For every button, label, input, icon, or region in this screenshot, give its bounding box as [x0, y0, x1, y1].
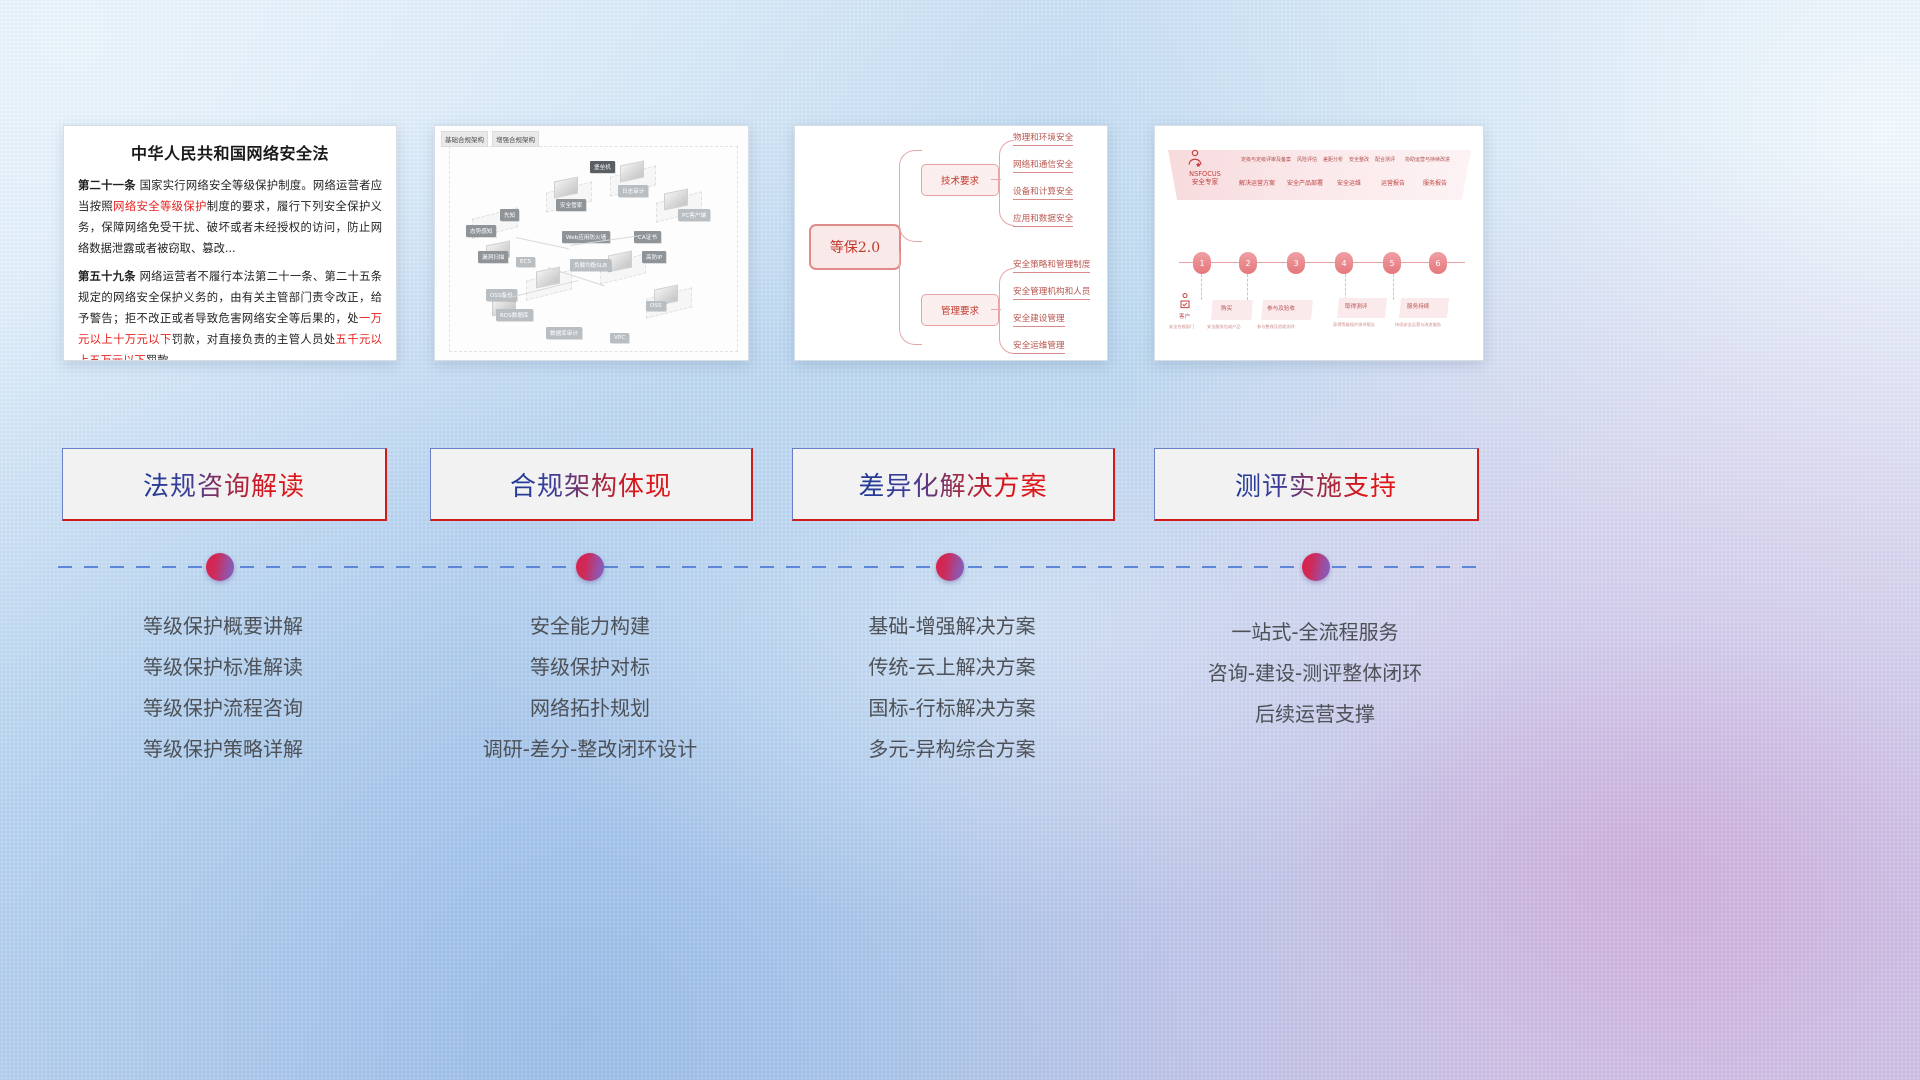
mindmap-root-node: 等保2.0: [809, 224, 901, 270]
list-item: 等级保护流程咨询: [62, 688, 384, 729]
expert-person-icon: [1185, 148, 1205, 168]
service-list-4: 一站式-全流程服务 咨询-建设-测评整体闭环 后续运营支撑: [1152, 612, 1478, 735]
card-nsfocus-roadmap: NSFOCUS 安全专家 定级与定级评审及备案 风险评估 差距分析 安全整改 配…: [1154, 125, 1484, 361]
nsfocus-tag-service: 服务持续: [1407, 302, 1429, 310]
nsfocus-step-6: 6: [1429, 252, 1447, 274]
topology-node-slb: 负载均衡SLB: [570, 259, 611, 271]
headline-box-3[interactable]: 差异化解决方案: [792, 448, 1115, 521]
topology-node-vpc: VPC: [610, 333, 629, 343]
law-title: 中华人民共和国网络安全法: [78, 140, 382, 164]
mindmap-connector: [899, 252, 922, 345]
topology-node-oss: OSS: [646, 301, 666, 311]
mindmap-connector: [899, 150, 922, 242]
list-item: 国标-行标解决方案: [792, 688, 1112, 729]
list-item: 等级保护策略详解: [62, 729, 384, 770]
law-article-21: 第二十一条 国家实行网络安全等级保护制度。网络运营者应当按照网络安全等级保护制度…: [78, 175, 382, 259]
service-list-1: 等级保护概要讲解 等级保护标准解读 等级保护流程咨询 等级保护策略详解: [62, 606, 384, 770]
topology-node-ossbak: OSS备份: [486, 289, 517, 301]
mindmap-leaf-policy: 安全策略和管理制度: [1013, 258, 1090, 273]
mindmap-leaf-physical: 物理和环境安全: [1013, 131, 1073, 146]
mindmap-leaf-ops: 安全运维管理: [1013, 339, 1065, 354]
list-item: 安全能力构建: [430, 606, 750, 647]
headline-label-1: 法规咨询解读: [143, 466, 305, 503]
nsfocus-banner-top-5: 配合测评: [1375, 156, 1395, 163]
mindmap-connector: [999, 268, 1014, 354]
service-list-2: 安全能力构建 等级保护对标 网络拓扑规划 调研-差分-整改闭环设计: [430, 606, 750, 770]
card-mindmap: 等保2.0 技术要求 管理要求 物理和环境安全 网络和通信安全 设备和计算安全 …: [794, 125, 1108, 361]
timeline-dot-3: [936, 553, 964, 581]
nsfocus-brand-line2: 安全专家: [1177, 178, 1233, 186]
nsfocus-tag-customer: 客户: [1179, 312, 1190, 320]
mindmap-connector: [991, 309, 1001, 310]
service-list-3: 基础-增强解决方案 传统-云上解决方案 国标-行标解决方案 多元-异构综合方案: [792, 606, 1112, 770]
mindmap-leaf-network: 网络和通信安全: [1013, 158, 1073, 173]
mindmap-connector: [999, 140, 1014, 226]
nsfocus-step-2: 2: [1239, 252, 1257, 274]
list-item: 后续运营支撑: [1152, 694, 1478, 735]
nsfocus-dash: [1393, 274, 1394, 300]
list-item: 等级保护概要讲解: [62, 606, 384, 647]
list-item: 一站式-全流程服务: [1152, 612, 1478, 653]
law-content: 中华人民共和国网络安全法 第二十一条 国家实行网络安全等级保护制度。网络运营者应…: [64, 126, 396, 360]
nsfocus-tag-participate: 参与及验收: [1267, 304, 1295, 312]
topology-node-situation: 态势感知: [466, 225, 496, 237]
headline-box-1[interactable]: 法规咨询解读: [62, 448, 387, 521]
mindmap-leaf-org: 安全管理机构和人员: [1013, 285, 1090, 300]
nsfocus-banner-bottom-1: 解决运营方案: [1239, 178, 1275, 187]
timeline-dot-1: [206, 553, 234, 581]
topology-node-antiddos: 高防IP: [642, 251, 666, 263]
nsfocus-dash: [1247, 274, 1248, 300]
nsfocus-step-5: 5: [1383, 252, 1401, 274]
nsfocus-tag-customer-sub: 安全合规部门: [1169, 324, 1194, 330]
law-article-21-highlight: 网络安全等级保护: [113, 200, 207, 213]
mindmap-connector: [991, 179, 1001, 180]
card-network-topology: 基础合规架构 增强合规架构 堡垒机 安全管家 先知 态势感知 漏洞扫描 日志审计: [434, 125, 749, 361]
list-item: 咨询-建设-测评整体闭环: [1152, 653, 1478, 694]
mindmap-leaf-device: 设备和计算安全: [1013, 185, 1073, 200]
headline-box-2[interactable]: 合规架构体现: [430, 448, 753, 521]
topology-tab-enhanced[interactable]: 增强合规架构: [492, 131, 539, 147]
list-item: 等级保护对标: [430, 647, 750, 688]
topology-node-bastion: 堡垒机: [590, 161, 615, 173]
nsfocus-brand: NSFOCUS 安全专家: [1177, 170, 1233, 186]
mindmap-branch-technical: 技术要求: [921, 164, 999, 196]
topology-node-rds: RDS数据库: [496, 309, 533, 321]
list-item: 传统-云上解决方案: [792, 647, 1112, 688]
nsfocus-banner-top-3: 差距分析: [1323, 156, 1343, 163]
nsfocus-step-3: 3: [1287, 252, 1305, 274]
topology-tabs: 基础合规架构 增强合规架构: [441, 131, 539, 147]
topology-diagram: 基础合规架构 增强合规架构 堡垒机 安全管家 先知 态势感知 漏洞扫描 日志审计: [435, 126, 748, 360]
customer-person-icon: [1177, 292, 1193, 310]
nsfocus-tag-report: 取得测评: [1345, 302, 1367, 310]
topology-node-logaudit: 日志审计: [618, 185, 648, 197]
nsfocus-banner-top-1: 定级与定级评审及备案: [1241, 156, 1291, 163]
headline-label-4: 测评实施支持: [1235, 466, 1397, 503]
nsfocus-banner-bottom-3: 安全运维: [1337, 178, 1361, 187]
nsfocus-tag-participate-sub: 参与整改及验收测评: [1257, 324, 1295, 330]
list-item: 网络拓扑规划: [430, 688, 750, 729]
nsfocus-banner-top-4: 安全整改: [1349, 156, 1369, 163]
nsfocus-dash: [1201, 274, 1202, 300]
topology-node-ca: CA证书: [634, 231, 661, 243]
list-item: 调研-差分-整改闭环设计: [430, 729, 750, 770]
headline-label-3: 差异化解决方案: [858, 466, 1047, 503]
nsfocus-tag-purchase-sub: 安全服务包或产品: [1207, 324, 1241, 330]
timeline-dot-2: [576, 553, 604, 581]
nsfocus-banner-top-6: 协助运营与持续改进: [1405, 156, 1450, 163]
nsfocus-tag-purchase: 购买: [1221, 304, 1232, 312]
list-item: 等级保护标准解读: [62, 647, 384, 688]
nsfocus-brand-line1: NSFOCUS: [1177, 170, 1233, 178]
timeline-dot-4: [1302, 553, 1330, 581]
timeline-dashed-line: [58, 566, 1480, 568]
mindmap-leaf-build: 安全建设管理: [1013, 312, 1065, 327]
nsfocus-banner-bottom-2: 安全产品部署: [1287, 178, 1323, 187]
law-article-59-text-b: 罚款，对直接负责的主管人员处: [172, 333, 336, 346]
nsfocus-tag-report-sub: 获得等级保护测评报告: [1333, 322, 1375, 328]
list-item: 多元-异构综合方案: [792, 729, 1112, 770]
topology-node-pc: PC客户端: [678, 209, 710, 221]
card-cybersecurity-law: 中华人民共和国网络安全法 第二十一条 国家实行网络安全等级保护制度。网络运营者应…: [63, 125, 397, 361]
law-article-59-text-c: 罚款。: [146, 354, 180, 361]
nsfocus-step-1: 1: [1193, 252, 1211, 274]
topology-link: [516, 237, 569, 249]
topology-node-xianzhi: 先知: [500, 209, 519, 221]
law-article-59: 第五十九条 网络运营者不履行本法第二十一条、第二十五条规定的网络安全保护义务的，…: [78, 266, 382, 361]
nsfocus-step-4: 4: [1335, 252, 1353, 274]
law-article-59-label: 第五十九条: [78, 270, 136, 283]
topology-node-guard: 安全管家: [556, 199, 586, 211]
law-article-21-label: 第二十一条: [78, 179, 136, 192]
nsfocus-banner-bottom-4: 运营报告: [1381, 178, 1405, 187]
headline-label-2: 合规架构体现: [510, 466, 672, 503]
nsfocus-diagram: NSFOCUS 安全专家 定级与定级评审及备案 风险评估 差距分析 安全整改 配…: [1155, 126, 1483, 360]
nsfocus-dash: [1345, 274, 1346, 300]
nsfocus-timeline-rail: [1179, 262, 1465, 263]
mindmap-diagram: 等保2.0 技术要求 管理要求 物理和环境安全 网络和通信安全 设备和计算安全 …: [795, 126, 1107, 360]
nsfocus-banner-top-2: 风险评估: [1297, 156, 1317, 163]
topology-node-ecs: ECS: [516, 257, 535, 267]
mindmap-branch-management: 管理要求: [921, 294, 999, 326]
topology-node-dbaudit: 数据库审计: [546, 327, 582, 339]
headline-box-4[interactable]: 测评实施支持: [1154, 448, 1479, 521]
nsfocus-banner-bottom-5: 服务报告: [1423, 178, 1447, 187]
list-item: 基础-增强解决方案: [792, 606, 1112, 647]
mindmap-leaf-application: 应用和数据安全: [1013, 212, 1073, 227]
nsfocus-tag-service-sub: 持续安全运营与改进服务: [1395, 322, 1441, 328]
topology-canvas: 堡垒机 安全管家 先知 态势感知 漏洞扫描 日志审计 Web应用防火墙 CA证书…: [449, 146, 738, 352]
topology-tab-basic[interactable]: 基础合规架构: [441, 131, 488, 147]
topology-node-vulnscan: 漏洞扫描: [478, 251, 508, 263]
